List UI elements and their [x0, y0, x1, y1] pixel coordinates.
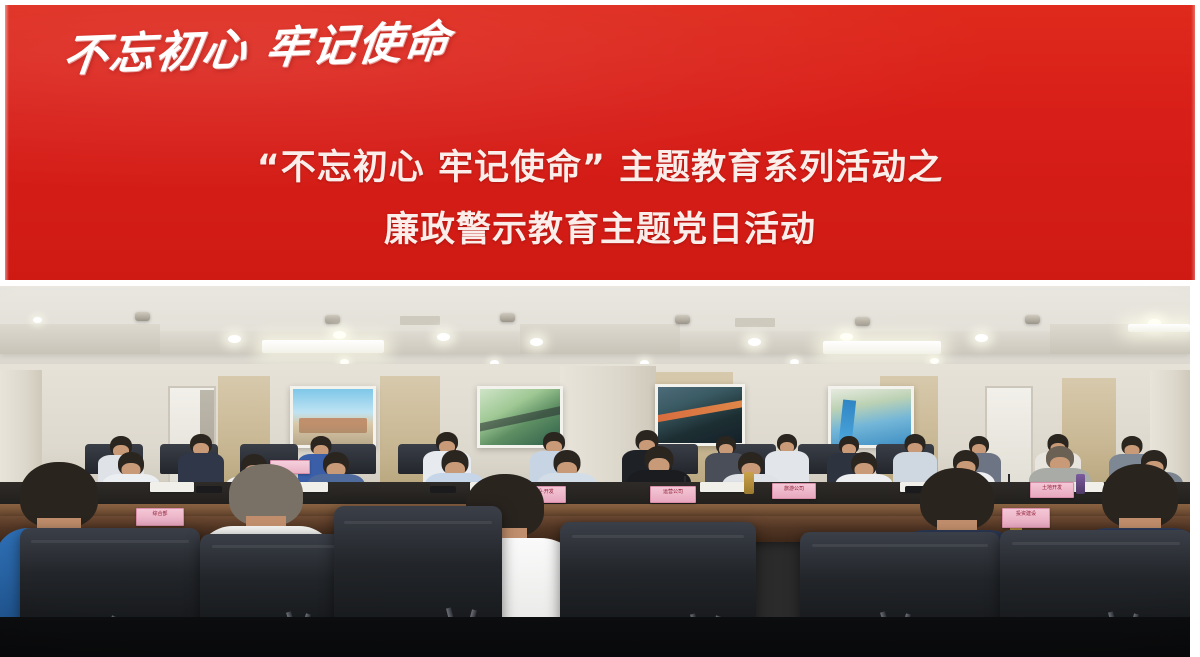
ceiling-vent-1 [400, 316, 440, 325]
ceiling-spotlight-2 [325, 315, 340, 324]
ceiling-spotlight-4 [675, 315, 690, 324]
ceiling-downlight-3 [333, 331, 346, 339]
ceiling-downlight-6 [748, 338, 761, 346]
ceiling-light-panel-left [262, 340, 384, 353]
calligraphy-logo: 不忘初心 牢记使命 [63, 23, 533, 95]
photo-scene: 城投·开发 运营公司 旅游公司 土地开发 投资建设 综合部 [0, 286, 1190, 657]
ceiling-drop-left [0, 324, 160, 354]
placard-text: 运营公司 [651, 487, 695, 495]
document-4 [700, 482, 748, 492]
ceiling-downlight-7 [840, 333, 853, 341]
name-placard-3: 旅游公司 [772, 483, 816, 499]
name-placard-4: 土地开发 [1030, 482, 1074, 498]
title-block: “不忘初心 牢记使命” 主题教育系列活动之 廉政警示教育主题党日活动 [10, 137, 1190, 261]
name-placard-2: 运营公司 [650, 486, 696, 503]
banner-right-highlight [1191, 5, 1195, 280]
ceiling-downlight-5 [530, 338, 543, 346]
ceiling-spotlight-3 [500, 313, 515, 322]
beverage-can [744, 472, 754, 494]
banner-left-highlight [5, 5, 9, 280]
ceiling-vent-2 [735, 318, 775, 327]
ceiling-downlight-4 [437, 333, 450, 341]
ceiling-spotlight-5 [855, 317, 870, 326]
ceiling-downlight-8 [975, 334, 988, 342]
ceiling-downlight-1 [33, 317, 42, 323]
calligraphy-slogan-text: 不忘初心 牢记使命 [59, 5, 540, 91]
title-line-1: “不忘初心 牢记使命” 主题教育系列活动之 [10, 137, 1190, 199]
ceiling-light-panel-right [823, 341, 941, 354]
document-1 [150, 482, 194, 492]
red-banner: 不忘初心 牢记使命 “不忘初心 牢记使命” 主题教育系列活动之 廉政警示教育主题… [5, 5, 1195, 280]
ceiling-light-panel-far-right [1128, 324, 1190, 332]
title-line-2: 廉政警示教育主题党日活动 [10, 199, 1190, 261]
ceiling-downlight-2 [228, 335, 241, 343]
ceiling-spotlight-1 [135, 312, 150, 321]
floor [0, 617, 1190, 657]
placard-text: 综合部 [137, 509, 183, 517]
ceiling-drop-center [520, 324, 680, 354]
ceiling-spotlight-6 [1025, 315, 1040, 324]
placard-text: 土地开发 [1031, 483, 1073, 491]
name-placard-6: 综合部 [136, 508, 184, 526]
meeting-photograph: 城投·开发 运营公司 旅游公司 土地开发 投资建设 综合部 [0, 286, 1190, 657]
presentation-slide: 不忘初心 牢记使命 “不忘初心 牢记使命” 主题教育系列活动之 廉政警示教育主题… [0, 0, 1200, 657]
placard-text: 旅游公司 [773, 484, 815, 492]
